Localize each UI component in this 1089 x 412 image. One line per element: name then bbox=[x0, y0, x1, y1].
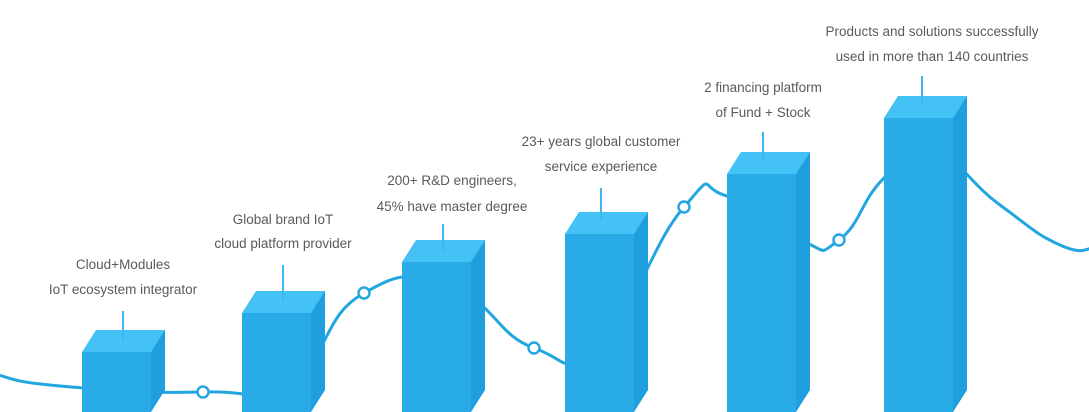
label-2-line-2: cloud platform provider bbox=[214, 236, 352, 251]
bar-5[interactable] bbox=[727, 152, 810, 412]
label-3-line-2: 45% have master degree bbox=[377, 199, 528, 214]
bar-top-face bbox=[727, 152, 810, 174]
label-5-line-1: 2 financing platform bbox=[704, 80, 822, 95]
bar-3[interactable] bbox=[402, 240, 485, 412]
label-4-line-1: 23+ years global customer bbox=[522, 134, 681, 149]
marker-5[interactable] bbox=[834, 235, 845, 246]
callout-label-4: 23+ years global customerservice experie… bbox=[522, 134, 681, 174]
bar-front-face bbox=[402, 262, 471, 412]
label-5-line-2: of Fund + Stock bbox=[716, 105, 811, 120]
marker-4[interactable] bbox=[679, 202, 690, 213]
bar-front-face bbox=[884, 118, 953, 412]
bar-front-face bbox=[565, 234, 634, 412]
bar-side-face bbox=[953, 96, 967, 412]
bar-front-face bbox=[727, 174, 796, 412]
label-6-line-2: used in more than 140 countries bbox=[836, 49, 1029, 64]
label-3-line-1: 200+ R&D engineers, bbox=[387, 173, 516, 188]
bar-side-face bbox=[796, 152, 810, 412]
bar-front-face bbox=[82, 352, 151, 412]
infographic-canvas: Cloud+ModulesIoT ecosystem integratorGlo… bbox=[0, 0, 1089, 412]
callout-label-1: Cloud+ModulesIoT ecosystem integrator bbox=[49, 257, 198, 297]
bar-2[interactable] bbox=[242, 291, 325, 412]
marker-1[interactable] bbox=[198, 387, 209, 398]
bar-front-face bbox=[242, 313, 311, 412]
callout-label-2: Global brand IoTcloud platform provider bbox=[214, 212, 352, 251]
label-2-line-1: Global brand IoT bbox=[233, 212, 334, 227]
bar-top-face bbox=[884, 96, 967, 118]
label-4-line-2: service experience bbox=[545, 159, 658, 174]
bar-4[interactable] bbox=[565, 212, 648, 412]
infographic-svg: Cloud+ModulesIoT ecosystem integratorGlo… bbox=[0, 0, 1089, 412]
callout-label-6: Products and solutions successfullyused … bbox=[825, 24, 1038, 64]
marker-3[interactable] bbox=[529, 343, 540, 354]
bar-side-face bbox=[634, 212, 648, 412]
callout-label-3: 200+ R&D engineers,45% have master degre… bbox=[377, 173, 528, 214]
bar-6[interactable] bbox=[884, 96, 967, 412]
bar-top-face bbox=[565, 212, 648, 234]
marker-2[interactable] bbox=[359, 288, 370, 299]
label-1-line-1: Cloud+Modules bbox=[76, 257, 170, 272]
label-1-line-2: IoT ecosystem integrator bbox=[49, 282, 198, 297]
label-6-line-1: Products and solutions successfully bbox=[825, 24, 1038, 39]
bar-side-face bbox=[471, 240, 485, 412]
bar-1[interactable] bbox=[82, 330, 165, 412]
callout-label-5: 2 financing platformof Fund + Stock bbox=[704, 80, 822, 120]
